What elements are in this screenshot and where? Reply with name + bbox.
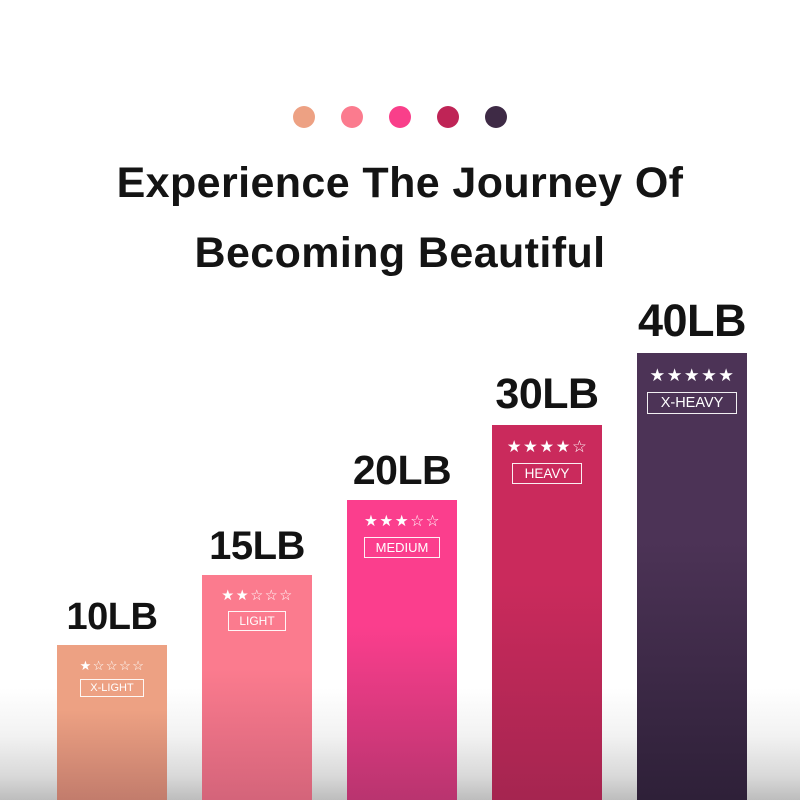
bar-weight-label: 30LB xyxy=(492,370,602,419)
star-filled-icon: ★ xyxy=(667,367,683,385)
bar-column[interactable]: ★★☆☆☆LIGHT xyxy=(202,575,312,800)
star-empty-icon: ☆ xyxy=(572,439,587,456)
star-filled-icon: ★ xyxy=(718,367,734,385)
star-rating: ★★★★☆ xyxy=(507,439,587,456)
star-filled-icon: ★ xyxy=(701,367,717,385)
star-filled-icon: ★ xyxy=(539,439,554,456)
bar-column[interactable]: ★★★★★X-HEAVY xyxy=(637,353,747,800)
star-empty-icon: ☆ xyxy=(410,514,424,530)
star-empty-icon: ☆ xyxy=(265,589,279,604)
star-filled-icon: ★ xyxy=(80,659,92,672)
star-empty-icon: ☆ xyxy=(279,589,293,604)
star-filled-icon: ★ xyxy=(236,589,250,604)
star-rating: ★★☆☆☆ xyxy=(221,589,293,604)
star-filled-icon: ★ xyxy=(364,514,378,530)
star-empty-icon: ☆ xyxy=(106,659,118,672)
bar-group-x-light[interactable]: 10LB★☆☆☆☆X-LIGHT xyxy=(57,645,167,800)
star-filled-icon: ★ xyxy=(379,514,393,530)
level-badge: MEDIUM xyxy=(364,537,441,558)
bar-column[interactable]: ★★★☆☆MEDIUM xyxy=(347,500,457,800)
bar-group-x-heavy[interactable]: 40LB★★★★★X-HEAVY xyxy=(637,353,747,800)
resistance-bar-chart: 10LB★☆☆☆☆X-LIGHT15LB★★☆☆☆LIGHT20LB★★★☆☆M… xyxy=(0,0,800,800)
bar-column[interactable]: ★☆☆☆☆X-LIGHT xyxy=(57,645,167,800)
star-empty-icon: ☆ xyxy=(250,589,264,604)
level-badge: HEAVY xyxy=(512,463,583,484)
level-badge: X-LIGHT xyxy=(80,679,143,697)
bar-column[interactable]: ★★★★☆HEAVY xyxy=(492,425,602,800)
star-filled-icon: ★ xyxy=(556,439,571,456)
star-empty-icon: ☆ xyxy=(426,514,440,530)
level-badge: LIGHT xyxy=(228,611,285,631)
bar-weight-label: 10LB xyxy=(57,596,167,639)
level-badge: X-HEAVY xyxy=(647,392,738,414)
star-empty-icon: ☆ xyxy=(93,659,105,672)
star-filled-icon: ★ xyxy=(221,589,235,604)
star-filled-icon: ★ xyxy=(523,439,538,456)
star-rating: ★★★★★ xyxy=(649,367,734,385)
star-empty-icon: ☆ xyxy=(132,659,144,672)
bar-weight-label: 15LB xyxy=(202,524,312,569)
bar-weight-label: 40LB xyxy=(637,295,747,347)
star-empty-icon: ☆ xyxy=(119,659,131,672)
star-filled-icon: ★ xyxy=(395,514,409,530)
star-rating: ★☆☆☆☆ xyxy=(80,659,145,672)
product-infographic: Experience The Journey Of Becoming Beaut… xyxy=(0,0,800,800)
star-filled-icon: ★ xyxy=(684,367,700,385)
star-filled-icon: ★ xyxy=(507,439,522,456)
bar-weight-label: 20LB xyxy=(347,447,457,494)
bar-group-light[interactable]: 15LB★★☆☆☆LIGHT xyxy=(202,575,312,800)
star-rating: ★★★☆☆ xyxy=(364,514,440,530)
bar-group-medium[interactable]: 20LB★★★☆☆MEDIUM xyxy=(347,500,457,800)
star-filled-icon: ★ xyxy=(649,367,665,385)
bar-group-heavy[interactable]: 30LB★★★★☆HEAVY xyxy=(492,425,602,800)
